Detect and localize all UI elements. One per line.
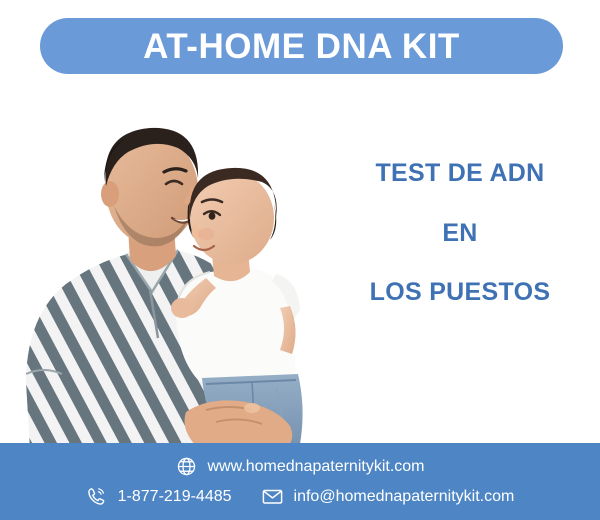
headline-line-2: EN bbox=[320, 220, 600, 248]
family-photo-illustration bbox=[0, 78, 330, 448]
phone-label: 1-877-219-4485 bbox=[118, 489, 232, 505]
website-label: www.homednapaternitykit.com bbox=[208, 459, 425, 475]
website-item[interactable]: www.homednapaternitykit.com bbox=[176, 456, 425, 477]
headline-block: TEST DE ADN EN LOS PUESTOS bbox=[320, 160, 600, 307]
email-item[interactable]: info@homednapaternitykit.com bbox=[262, 486, 515, 507]
envelope-icon bbox=[262, 486, 283, 507]
footer-contact-bar: www.homednapaternitykit.com 1-877-219-44… bbox=[0, 443, 600, 520]
page-title: AT-HOME DNA KIT bbox=[143, 29, 460, 64]
family-photo bbox=[0, 78, 330, 448]
footer-row-website: www.homednapaternitykit.com bbox=[0, 456, 600, 477]
email-label: info@homednapaternitykit.com bbox=[294, 489, 515, 505]
header-banner: AT-HOME DNA KIT bbox=[40, 18, 563, 74]
poster-canvas: AT-HOME DNA KIT bbox=[0, 0, 600, 520]
headline-line-3: LOS PUESTOS bbox=[320, 279, 600, 307]
headline-line-1: TEST DE ADN bbox=[320, 160, 600, 188]
phone-icon bbox=[86, 486, 107, 507]
footer-row-phone-email: 1-877-219-4485 info@homednapaternitykit.… bbox=[0, 486, 600, 507]
phone-item[interactable]: 1-877-219-4485 bbox=[86, 486, 232, 507]
globe-icon bbox=[176, 456, 197, 477]
